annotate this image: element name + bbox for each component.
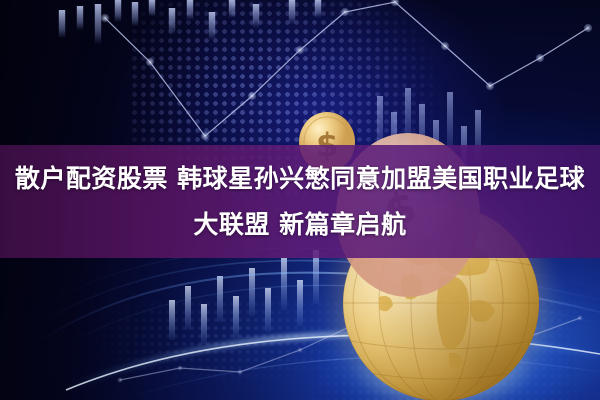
banner-image: $ $ 散户配资股票 韩球星孙兴慜同意加盟美国职业足球 大联盟 新篇章启航 (0, 0, 600, 400)
headline-line-1: 散户配资股票 韩球星孙兴慜同意加盟美国职业足球 (15, 157, 585, 201)
headline-block: 散户配资股票 韩球星孙兴慜同意加盟美国职业足球 大联盟 新篇章启航 (0, 145, 600, 258)
headline-line-2: 大联盟 新篇章启航 (193, 203, 406, 247)
